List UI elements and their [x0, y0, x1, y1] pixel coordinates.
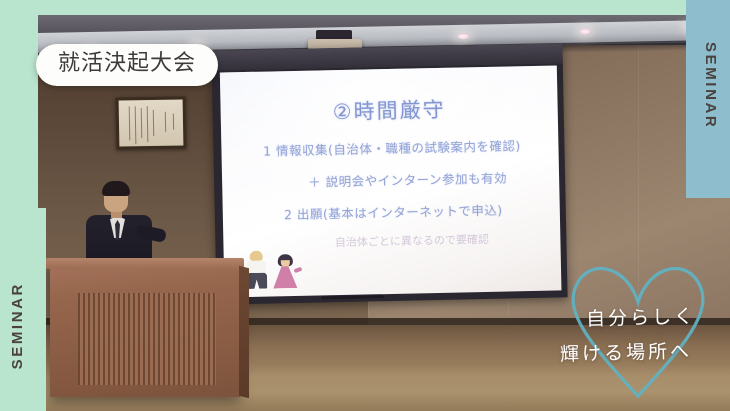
- seminar-banner: ②時間厳守 1 情報収集(自治体・職種の試験案内を確認) ＋ 説明会やインターン…: [0, 0, 730, 411]
- side-label-right: SEMINAR: [702, 42, 719, 129]
- screen-surface: ②時間厳守 1 情報収集(自治体・職種の試験案内を確認) ＋ 説明会やインターン…: [220, 65, 562, 297]
- wall-seam: [638, 45, 639, 315]
- slide-line-1: 1 情報収集(自治体・職種の試験案内を確認): [231, 135, 548, 161]
- slide-illustration: [241, 245, 320, 295]
- frame-mint-left: [0, 0, 38, 208]
- frame-mint-top: [0, 0, 365, 15]
- handwriting-line-1: 自分らしく: [586, 302, 697, 332]
- title-badge: 就活決起大会: [36, 44, 218, 86]
- framed-certificate: [116, 96, 187, 149]
- side-label-left: SEMINAR: [9, 282, 26, 369]
- handwriting-line-2: 輝ける場所へ: [560, 336, 693, 366]
- podium: [50, 265, 240, 397]
- slide-title: ②時間厳守: [230, 92, 548, 129]
- downlight-icon: [578, 28, 592, 35]
- projection-screen: ②時間厳守 1 情報収集(自治体・職種の試験案内を確認) ＋ 説明会やインターン…: [211, 43, 567, 304]
- screen-weight-bar: [322, 295, 385, 299]
- slide-line-3: 2 出願(基本はインターネットで申込): [233, 199, 550, 225]
- downlight-icon: [456, 33, 470, 40]
- slide-line-2: ＋ 説明会やインターン参加も有効: [232, 167, 549, 193]
